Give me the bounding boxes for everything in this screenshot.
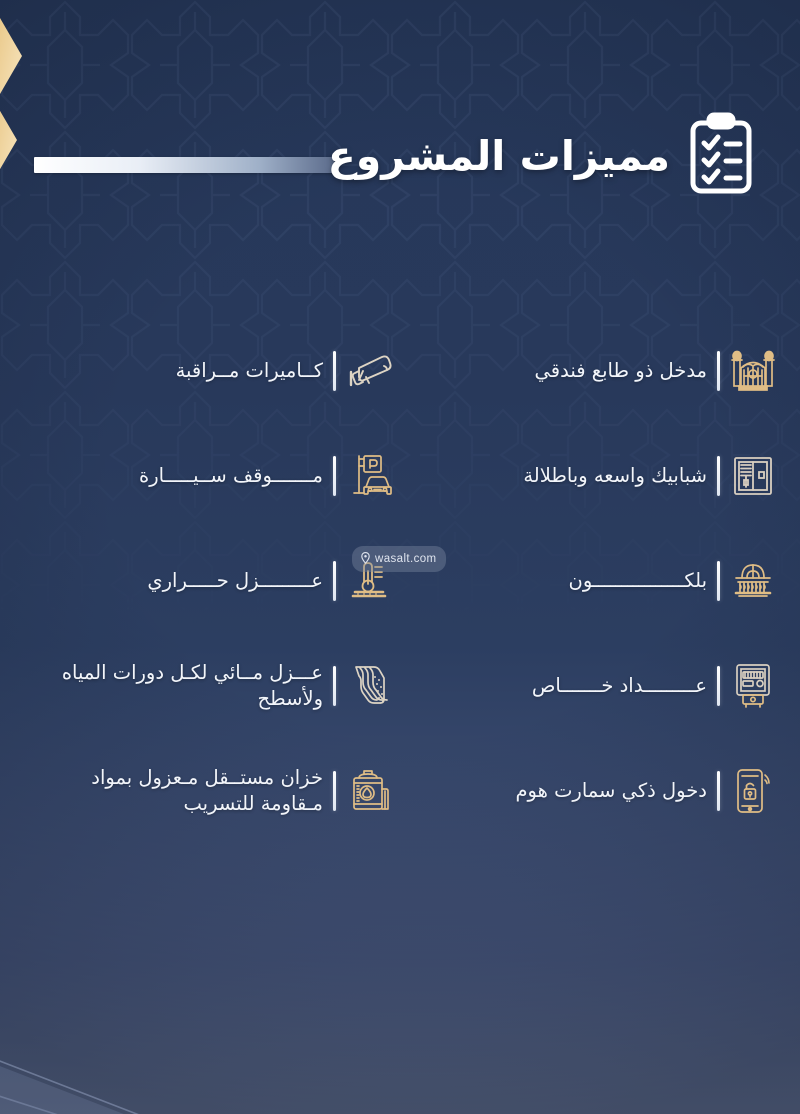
ornate-gate-icon (730, 346, 776, 396)
parking-car-icon (346, 451, 392, 501)
clipboard-checklist-icon (688, 112, 754, 200)
feature-item[interactable]: بلكــــــــــــــــون (400, 528, 800, 633)
feature-item[interactable]: عـــزل مــائي لكـل دورات المياه ولأسطح (0, 633, 400, 738)
location-pin-icon (361, 549, 370, 568)
waterproof-membrane-icon (346, 661, 392, 711)
feature-label: عـــــــــزل حـــــراري (30, 568, 323, 594)
page-title: مميزات المشروع (328, 136, 670, 177)
feature-divider (333, 351, 336, 391)
feature-item[interactable]: دخول ذكي سمارت هوم (400, 738, 800, 843)
feature-divider (333, 561, 336, 601)
feature-item[interactable]: كــاميرات مــراقبة (0, 318, 400, 423)
header-accent-bar (34, 157, 334, 173)
features-grid: مدخل ذو طابع فندقي (0, 318, 800, 843)
feature-label: عـــزل مــائي لكـل دورات المياه ولأسطح (30, 660, 323, 711)
watermark: wasalt.com (352, 546, 446, 572)
header-title-group: مميزات المشروع (328, 112, 754, 200)
feature-item[interactable]: عـــــــــداد خـــــــاص (400, 633, 800, 738)
feature-label: كــاميرات مــراقبة (30, 358, 323, 384)
project-features-poster: مميزات المشروع (0, 0, 800, 1114)
feature-label: خزان مستــقل مـعزول بمواد مـقاومة للتسري… (30, 765, 323, 816)
feature-item[interactable]: مـــــــوقف ســيـــــارة (0, 423, 400, 528)
feature-label: مـــــــوقف ســيـــــارة (30, 463, 323, 489)
feature-item[interactable]: مدخل ذو طابع فندقي (400, 318, 800, 423)
header: مميزات المشروع (0, 60, 800, 170)
feature-label: مدخل ذو طابع فندقي (418, 358, 707, 384)
feature-label: بلكــــــــــــــــون (418, 568, 707, 594)
feature-divider (717, 456, 720, 496)
feature-divider (717, 351, 720, 391)
features-right-column: مدخل ذو طابع فندقي (400, 318, 800, 843)
feature-divider (717, 561, 720, 601)
bottom-diagonal-sheen (0, 914, 360, 1114)
cctv-camera-icon (346, 346, 392, 396)
electricity-meter-icon (730, 661, 776, 711)
window-blinds-icon (730, 451, 776, 501)
feature-divider (717, 666, 720, 706)
balcony-railing-icon (730, 556, 776, 606)
feature-divider (333, 771, 336, 811)
feature-item[interactable]: خزان مستــقل مـعزول بمواد مـقاومة للتسري… (0, 738, 400, 843)
features-left-column: كــاميرات مــراقبة (0, 318, 400, 843)
feature-label: عـــــــــداد خـــــــاص (418, 673, 707, 699)
smart-lock-phone-icon (730, 766, 776, 816)
feature-item[interactable]: عـــــــــزل حـــــراري (0, 528, 400, 633)
feature-divider (333, 456, 336, 496)
feature-label: شبابيك واسعه وباطلالة (418, 463, 707, 489)
feature-divider (333, 666, 336, 706)
watermark-text: wasalt.com (375, 553, 437, 565)
feature-item[interactable]: شبابيك واسعه وباطلالة (400, 423, 800, 528)
feature-divider (717, 771, 720, 811)
feature-label: دخول ذكي سمارت هوم (418, 778, 707, 804)
water-tank-icon (346, 766, 392, 816)
